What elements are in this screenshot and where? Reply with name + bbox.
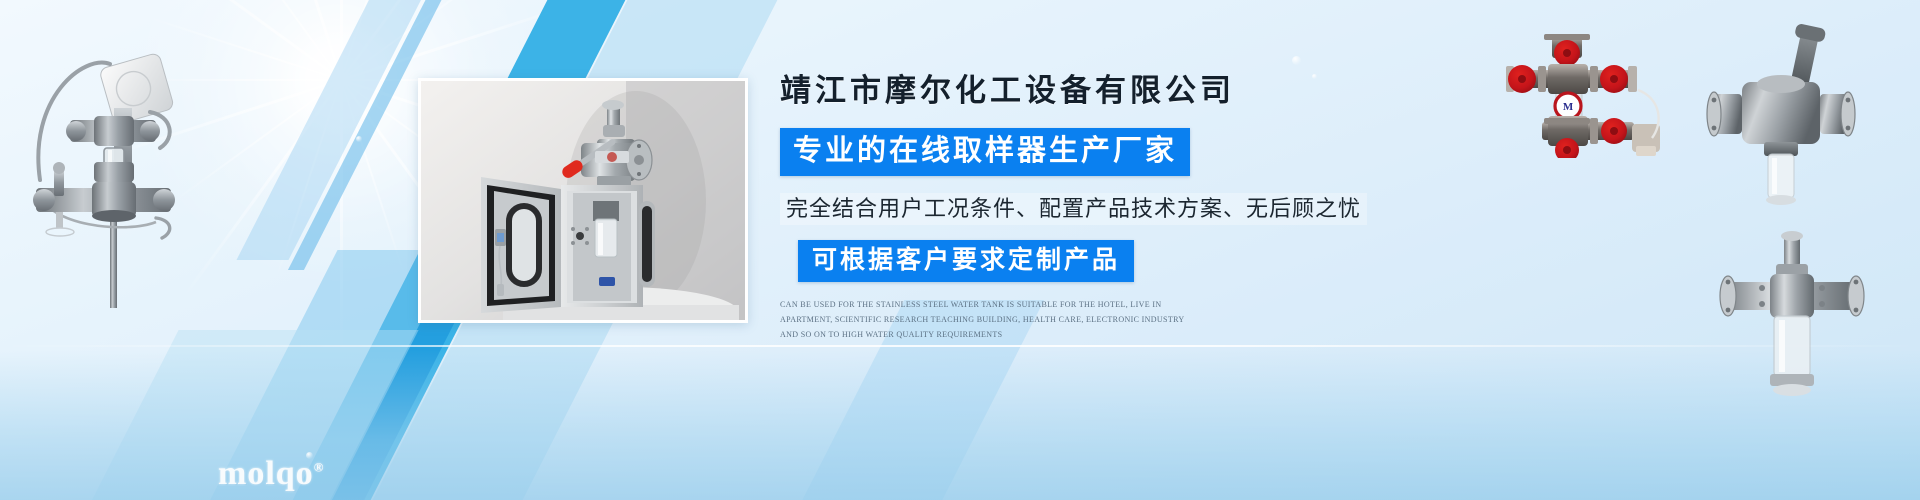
primary-slogan-badge: 专业的在线取样器生产厂家 (780, 128, 1190, 176)
english-description: CAN BE USED FOR THE STAINLESS STEEL WATE… (780, 298, 1200, 342)
watermark-text: molqo (218, 455, 314, 492)
company-name: 靖江市摩尔化工设备有限公司 (780, 72, 1420, 111)
right-product-image-valve-body (1690, 22, 1870, 222)
right-product-image-inline-sampler (1700, 230, 1890, 420)
registered-mark-icon: ® (314, 460, 325, 475)
svg-text:M: M (1563, 101, 1574, 113)
water-droplet-decoration (1292, 56, 1301, 65)
description-line: 完全结合用户工况条件、配置产品技术方案、无后顾之忧 (780, 193, 1367, 225)
secondary-slogan-badge: 可根据客户要求定制产品 (798, 240, 1134, 282)
brand-watermark: molqo® (218, 455, 324, 493)
right-product-image-manifold: M (1480, 28, 1680, 158)
banner-copy-block: 靖江市摩尔化工设备有限公司 专业的在线取样器生产厂家 完全结合用户工况条件、配置… (780, 72, 1420, 343)
center-product-photo (418, 78, 748, 323)
promotional-banner: M (0, 0, 1920, 500)
water-droplet-decoration (356, 136, 362, 142)
left-product-image (6, 20, 196, 310)
horizon-line-decoration (0, 345, 1920, 347)
